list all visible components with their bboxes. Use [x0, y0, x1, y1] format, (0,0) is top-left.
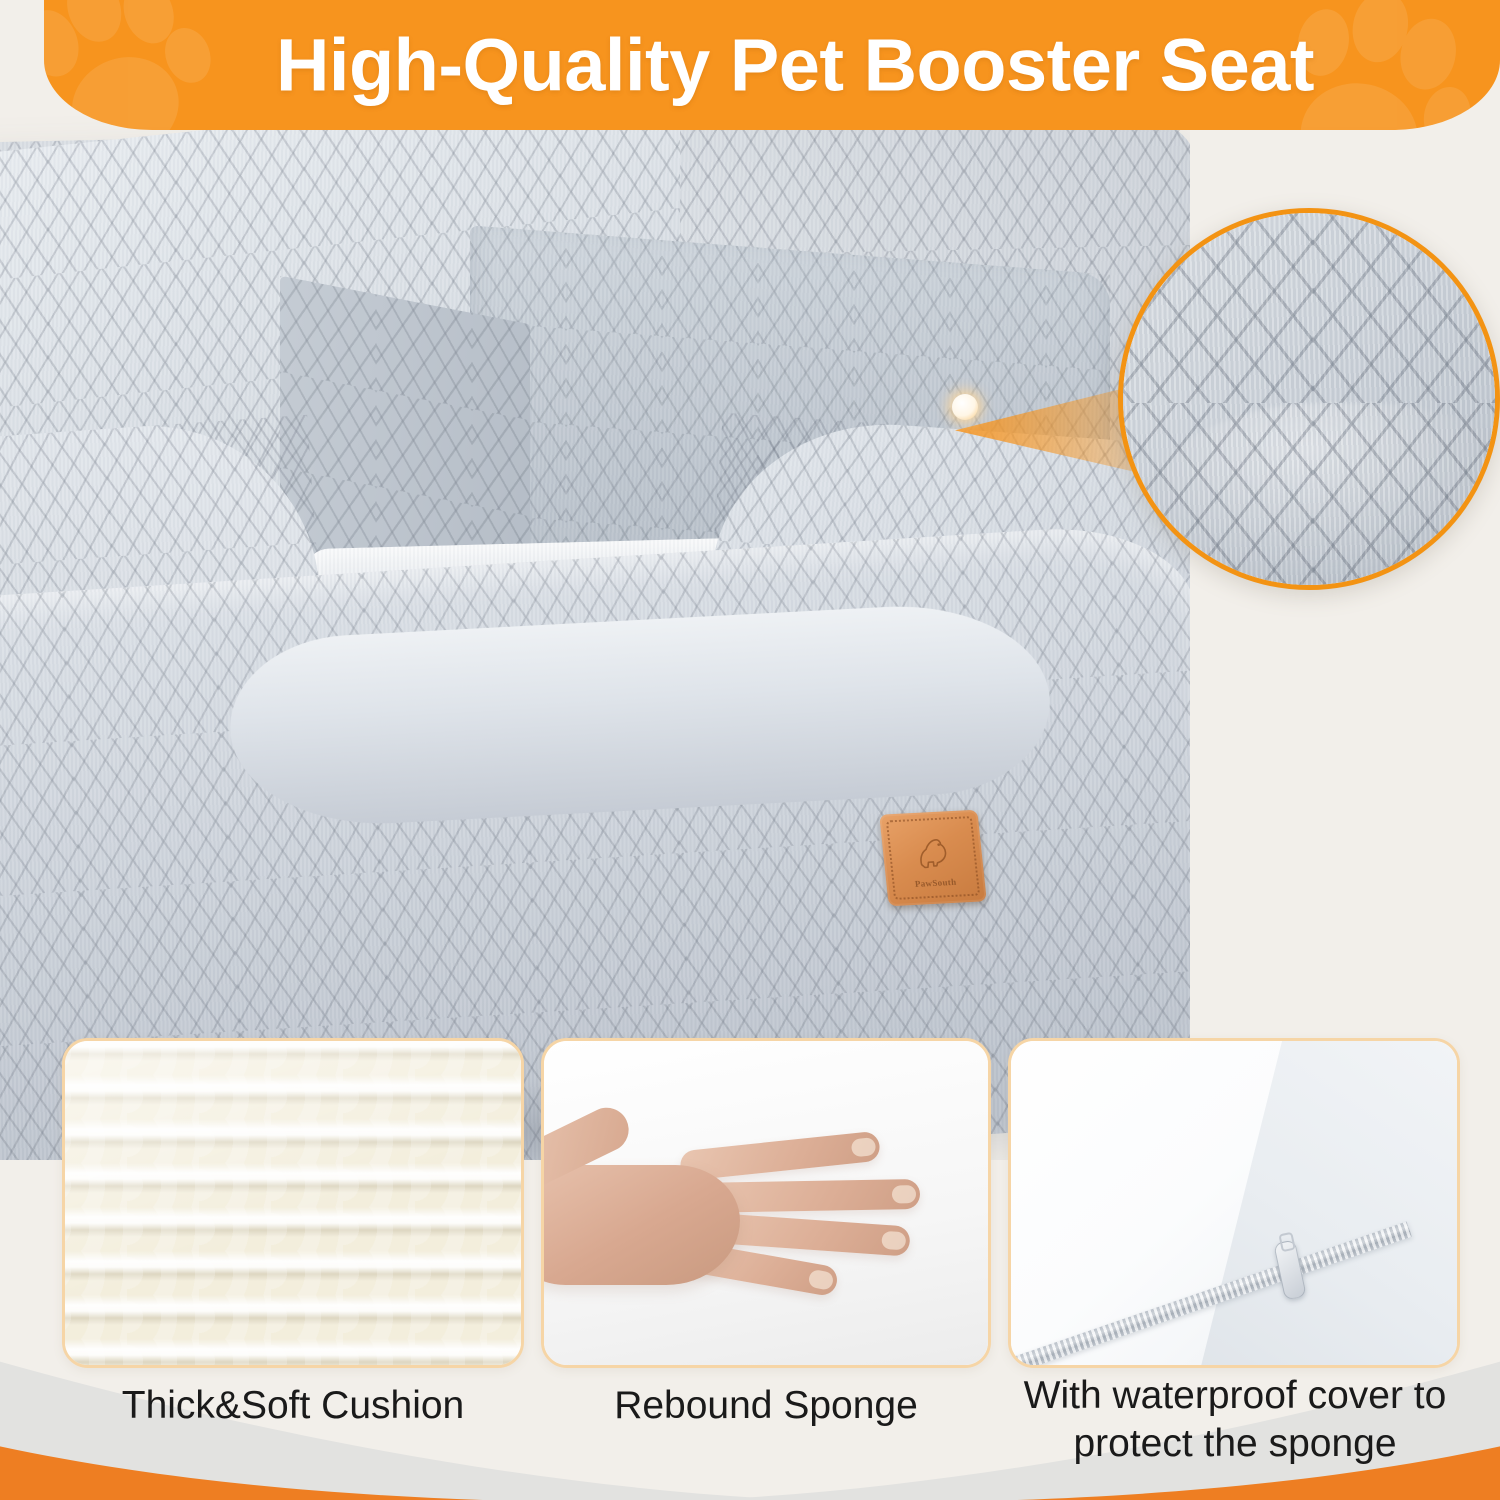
feature-card-rebound-sponge[interactable] — [541, 1038, 991, 1368]
page-title: High-Quality Pet Booster Seat — [44, 23, 1500, 108]
hand-pressing-icon — [541, 1125, 930, 1295]
magnifier-circle-icon — [1118, 208, 1500, 590]
caption-rebound-sponge: Rebound Sponge — [541, 1382, 991, 1430]
foam-sheen — [65, 1041, 521, 1365]
magnifier-detail-image — [1118, 208, 1500, 590]
fingernail — [892, 1185, 916, 1203]
caption-line-2: protect the sponge — [1000, 1420, 1470, 1468]
magnifier-plush-texture — [1118, 208, 1500, 590]
fingernail — [851, 1137, 877, 1157]
dog-silhouette-icon — [911, 835, 955, 871]
rebound-sponge-image — [544, 1041, 988, 1365]
palm — [541, 1165, 740, 1285]
brand-patch: PawSouth — [879, 810, 987, 907]
product-infographic: PawSouth High-Quality Pet Booster — [0, 0, 1500, 1500]
footer-orange-arc-left — [0, 1442, 560, 1500]
egg-crate-foam-image — [65, 1041, 521, 1365]
brand-wordmark: PawSouth — [886, 875, 985, 890]
feature-card-waterproof-cover[interactable] — [1008, 1038, 1460, 1368]
hero-product-photo: PawSouth — [0, 0, 1190, 1160]
caption-line-1: With waterproof cover to — [1000, 1372, 1470, 1420]
feature-card-row — [0, 1038, 1500, 1378]
waterproof-cover-image — [1011, 1041, 1457, 1365]
fingernail — [808, 1269, 835, 1291]
caption-thick-soft-cushion: Thick&Soft Cushion — [62, 1382, 524, 1430]
header-banner: High-Quality Pet Booster Seat — [44, 0, 1500, 130]
feature-card-thick-soft-cushion[interactable] — [62, 1038, 524, 1368]
caption-waterproof-cover: With waterproof cover to protect the spo… — [1000, 1372, 1470, 1467]
fingernail — [881, 1231, 906, 1251]
highlight-dot-icon — [952, 394, 978, 420]
